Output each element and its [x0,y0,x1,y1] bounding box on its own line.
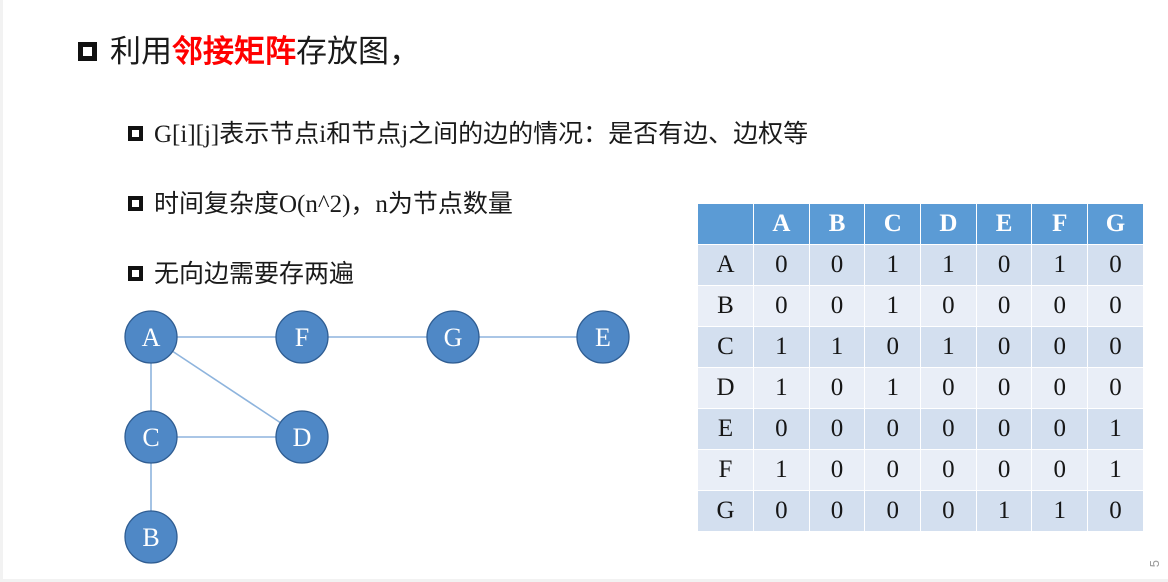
bullet-main-before: 利用 [110,34,172,69]
matrix-cell-f-b: 0 [809,450,865,491]
graph-node-label: G [444,323,463,352]
matrix-row: E0000001 [698,409,1144,450]
graph-edge-a-d [171,350,282,423]
matrix-cell-a-b: 0 [809,245,865,286]
matrix-cell-d-b: 0 [809,368,865,409]
slide-canvas: 利用邻接矩阵存放图， G[i][j]表示节点i和节点j之间的边的情况：是否有边、… [0,0,1168,582]
bullet-main: 利用邻接矩阵存放图， [78,36,420,67]
bullet-square-icon [128,196,143,211]
slide-left-edge [0,0,3,582]
matrix-cell-b-b: 0 [809,286,865,327]
matrix-cell-b-d: 0 [921,286,977,327]
matrix-cell-d-a: 1 [754,368,810,409]
matrix-table-head: ABCDEFG [698,204,1144,245]
matrix-row-header-a: A [698,245,754,286]
bullet-main-after: 存放图， [296,34,420,69]
bullet-sub-complexity-text: 时间复杂度O(n^2)，n为节点数量 [154,192,513,217]
matrix-cell-e-e: 0 [976,409,1032,450]
matrix-cell-b-e: 0 [976,286,1032,327]
matrix-corner-cell [698,204,754,245]
matrix-cell-a-f: 1 [1032,245,1088,286]
bullet-sub-undirected-text: 无向边需要存两遍 [154,262,354,287]
bullet-square-icon [128,266,143,281]
matrix-row-header-d: D [698,368,754,409]
matrix-row: A0011010 [698,245,1144,286]
matrix-cell-d-f: 0 [1032,368,1088,409]
matrix-row-header-b: B [698,286,754,327]
matrix-cell-b-f: 0 [1032,286,1088,327]
matrix-cell-g-c: 0 [865,491,921,532]
bullet-square-icon [78,42,97,61]
matrix-cell-c-b: 1 [809,327,865,368]
matrix-cell-a-e: 0 [976,245,1032,286]
matrix-cell-e-g: 1 [1088,409,1144,450]
matrix-cell-f-a: 1 [754,450,810,491]
matrix-row-header-f: F [698,450,754,491]
matrix-cell-d-e: 0 [976,368,1032,409]
graph-node-label: A [142,323,161,352]
matrix-col-header-c: C [865,204,921,245]
matrix-cell-d-g: 0 [1088,368,1144,409]
bullet-main-text: 利用邻接矩阵存放图， [110,36,420,67]
matrix-cell-c-f: 0 [1032,327,1088,368]
matrix-col-header-d: D [921,204,977,245]
graph-node-e[interactable]: E [577,311,629,363]
matrix-cell-f-c: 0 [865,450,921,491]
matrix-cell-f-e: 0 [976,450,1032,491]
matrix-cell-g-f: 1 [1032,491,1088,532]
page-number: 5 [1147,560,1162,567]
matrix-cell-a-d: 1 [921,245,977,286]
matrix-table-body: A0011010B0010000C1101000D1010000E0000001… [698,245,1144,532]
matrix-cell-c-g: 0 [1088,327,1144,368]
matrix-cell-c-c: 0 [865,327,921,368]
matrix-cell-d-d: 0 [921,368,977,409]
matrix-cell-g-a: 0 [754,491,810,532]
graph-node-label: C [142,423,159,452]
matrix-col-header-b: B [809,204,865,245]
matrix-cell-g-e: 1 [976,491,1032,532]
graph-node-label: F [295,323,309,352]
matrix-cell-c-d: 1 [921,327,977,368]
matrix-cell-a-a: 0 [754,245,810,286]
matrix-row: F1000001 [698,450,1144,491]
bullet-main-highlight: 邻接矩阵 [172,34,296,69]
bullet-sub-gij-text: G[i][j]表示节点i和节点j之间的边的情况：是否有边、边权等 [154,122,808,147]
graph-diagram: AFGECDB [110,300,650,575]
matrix-cell-g-d: 0 [921,491,977,532]
matrix-cell-d-c: 1 [865,368,921,409]
matrix-row: B0010000 [698,286,1144,327]
matrix-cell-b-g: 0 [1088,286,1144,327]
matrix-col-header-g: G [1088,204,1144,245]
graph-node-label: D [293,423,312,452]
graph-node-d[interactable]: D [276,411,328,463]
matrix-cell-c-e: 0 [976,327,1032,368]
matrix-row-header-e: E [698,409,754,450]
graph-node-b[interactable]: B [125,511,177,563]
matrix-row-header-g: G [698,491,754,532]
matrix-cell-c-a: 1 [754,327,810,368]
matrix-cell-a-c: 1 [865,245,921,286]
matrix-row: D1010000 [698,368,1144,409]
matrix-cell-e-d: 0 [921,409,977,450]
bullet-square-icon [128,126,143,141]
bullet-sub-undirected: 无向边需要存两遍 [128,262,354,287]
graph-node-a[interactable]: A [125,311,177,363]
graph-node-label: B [142,523,159,552]
graph-node-f[interactable]: F [276,311,328,363]
matrix-cell-e-c: 0 [865,409,921,450]
graph-node-g[interactable]: G [427,311,479,363]
matrix-cell-e-f: 0 [1032,409,1088,450]
bullet-sub-gij: G[i][j]表示节点i和节点j之间的边的情况：是否有边、边权等 [128,122,808,147]
graph-edge-layer [151,337,579,513]
matrix-cell-b-a: 0 [754,286,810,327]
matrix-col-header-e: E [976,204,1032,245]
matrix-cell-b-c: 1 [865,286,921,327]
adjacency-matrix-table: ABCDEFG A0011010B0010000C1101000D1010000… [697,203,1144,532]
matrix-col-header-f: F [1032,204,1088,245]
matrix-row: C1101000 [698,327,1144,368]
matrix-header-row: ABCDEFG [698,204,1144,245]
bullet-sub-complexity: 时间复杂度O(n^2)，n为节点数量 [128,192,513,217]
matrix-col-header-a: A [754,204,810,245]
matrix-cell-e-a: 0 [754,409,810,450]
matrix-cell-g-g: 0 [1088,491,1144,532]
matrix-cell-f-g: 1 [1088,450,1144,491]
graph-node-c[interactable]: C [125,411,177,463]
matrix-cell-f-f: 0 [1032,450,1088,491]
matrix-row-header-c: C [698,327,754,368]
matrix-cell-e-b: 0 [809,409,865,450]
matrix-cell-f-d: 0 [921,450,977,491]
matrix-cell-a-g: 0 [1088,245,1144,286]
matrix-row: G0000110 [698,491,1144,532]
graph-node-label: E [595,323,611,352]
matrix-cell-g-b: 0 [809,491,865,532]
